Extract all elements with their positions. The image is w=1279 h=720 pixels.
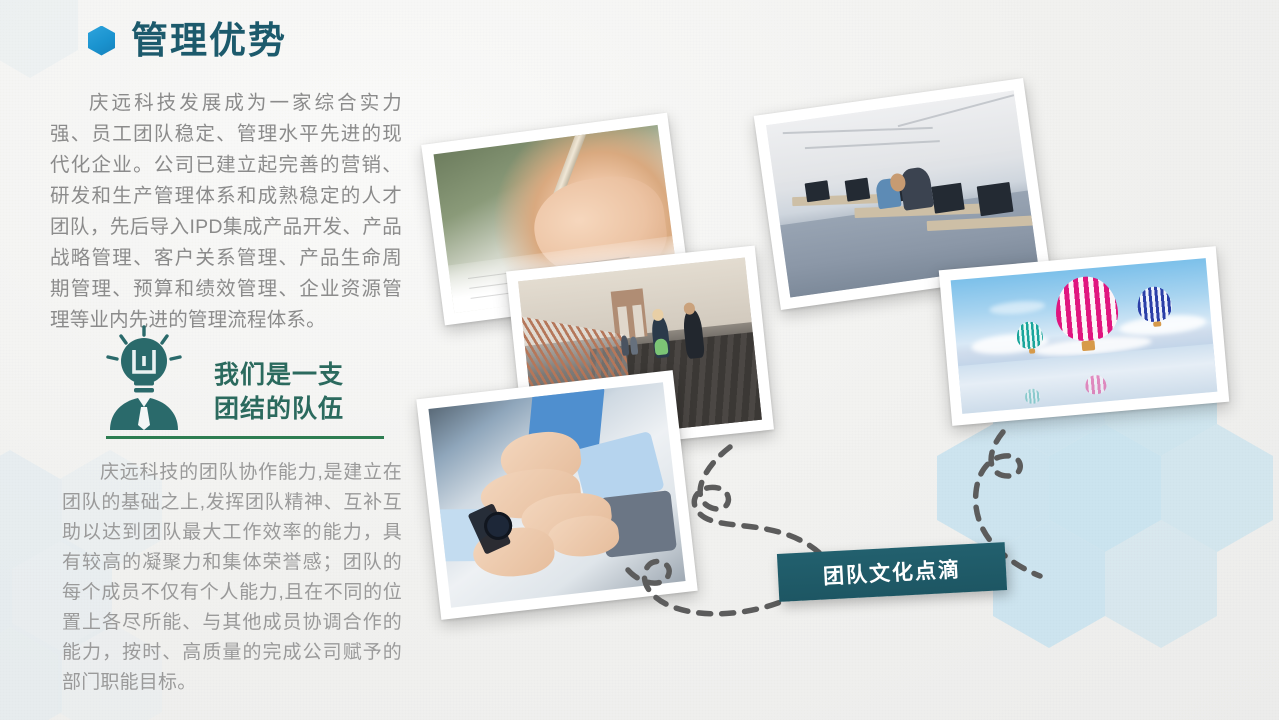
page-title: 管理优势 — [131, 22, 287, 59]
hexagon-icon — [88, 26, 115, 56]
balloon-blue — [1136, 285, 1172, 323]
team-text-block: 庆远科技的团队协作能力,是建立在团队的基础之上,发挥团队精神、互补互助以达到团队… — [62, 458, 402, 698]
photo-hands[interactable] — [416, 370, 697, 620]
team-culture-banner-label: 团队文化点滴 — [822, 553, 961, 590]
intro-paragraph: 庆远科技发展成为一家综合实力强、员工团队稳定、管理水平先进的现代化企业。公司已建… — [50, 88, 402, 336]
team-paragraph: 庆远科技的团队协作能力,是建立在团队的基础之上,发挥团队精神、互补互助以达到团队… — [62, 458, 402, 698]
team-subheading-line-2: 团结的队伍 — [214, 392, 344, 426]
lightbulb-person-icon — [96, 325, 192, 430]
photo-balloon-image — [951, 258, 1218, 414]
team-culture-banner[interactable]: 团队文化点滴 — [777, 542, 1007, 602]
team-subheading: 我们是一支 团结的队伍 — [214, 358, 344, 430]
team-heading-block: 我们是一支 团结的队伍 — [96, 325, 396, 439]
photo-hands-image — [428, 382, 685, 607]
balloon-pink — [1053, 274, 1120, 343]
intro-text-block: 庆远科技发展成为一家综合实力强、员工团队稳定、管理水平先进的现代化企业。公司已建… — [50, 88, 402, 336]
team-subheading-line-1: 我们是一支 — [214, 358, 344, 392]
ceiling-shape — [766, 90, 1022, 183]
slide-canvas: 管理优势 庆远科技发展成为一家综合实力强、员工团队稳定、管理水平先进的现代化企业… — [0, 0, 1279, 720]
photo-balloon[interactable] — [939, 246, 1230, 426]
team-heading-underline — [106, 436, 384, 439]
slide-header: 管理优势 — [88, 22, 287, 59]
